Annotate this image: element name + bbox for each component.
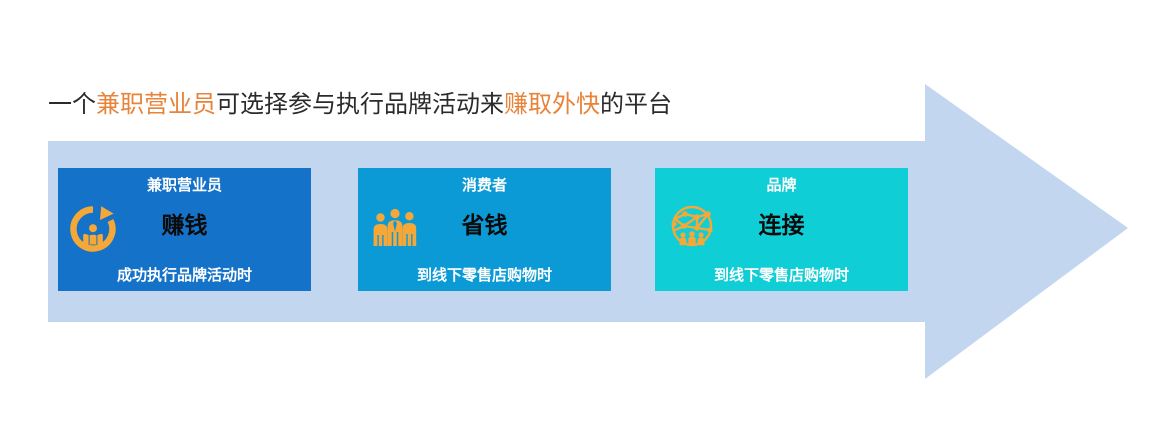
card-part-time-clerk[interactable]: 兼职营业员 赚钱 成功执行品牌活动时 bbox=[58, 168, 311, 291]
headline-segment-2: 可选择参与执行品牌活动来 bbox=[216, 90, 504, 118]
card-main-label: 连接 bbox=[655, 212, 908, 240]
card-footer-label: 成功执行品牌活动时 bbox=[58, 265, 311, 285]
card-row: 兼职营业员 赚钱 成功执行品牌活动时 消费者 bbox=[58, 168, 918, 291]
card-footer-label: 到线下零售店购物时 bbox=[358, 265, 611, 285]
headline-segment-1-highlight: 兼职营业员 bbox=[96, 90, 216, 118]
card-consumer[interactable]: 消费者 省钱 到线下零售店购物时 bbox=[358, 168, 611, 291]
page-title: 一个兼职营业员可选择参与执行品牌活动来赚取外快的平台 bbox=[48, 88, 672, 120]
headline-segment-3-highlight: 赚取外快 bbox=[504, 90, 600, 118]
card-footer-label: 到线下零售店购物时 bbox=[655, 265, 908, 285]
card-main-label: 省钱 bbox=[358, 212, 611, 240]
card-main-label: 赚钱 bbox=[58, 212, 311, 240]
card-brand[interactable]: 品牌 bbox=[655, 168, 908, 291]
card-title: 消费者 bbox=[358, 175, 611, 195]
card-title: 兼职营业员 bbox=[58, 175, 311, 195]
card-title: 品牌 bbox=[655, 175, 908, 195]
headline-segment-0: 一个 bbox=[48, 90, 96, 118]
headline-segment-4: 的平台 bbox=[600, 90, 672, 118]
